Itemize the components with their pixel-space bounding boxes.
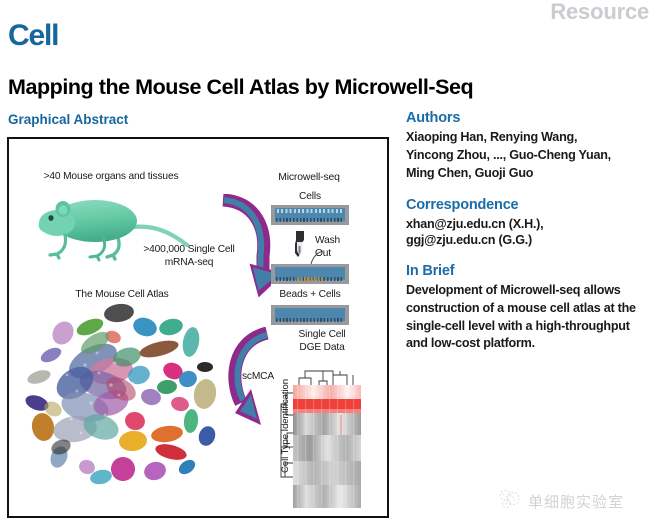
microwell-panel-beads-cells (271, 305, 349, 325)
in-brief-line: construction of a mouse cell atlas at th… (406, 300, 654, 318)
correspondence-emails: xhan@zju.edu.cn (X.H.), ggj@zju.edu.cn (… (406, 216, 654, 249)
watermark: 单细胞实验室 (497, 487, 624, 516)
dge-data-label: Single Cell DGE Data (277, 329, 367, 355)
correspondence-email[interactable]: xhan@zju.edu.cn (X.H.), (406, 216, 654, 233)
heatmap-icon (293, 385, 361, 508)
authors-line: Xiaoping Han, Renying Wang, (406, 129, 654, 147)
tsne-scatter-icon (15, 299, 230, 517)
microwell-panel-cells (271, 205, 349, 225)
arrow-microwell-to-atlas (215, 194, 271, 306)
correspondence-heading: Correspondence (406, 197, 654, 213)
cell-cluster-icon (497, 487, 521, 516)
in-brief-line: single-cell level with a high-throughput (406, 318, 654, 336)
article-meta-column: Authors Xiaoping Han, Renying Wang, Yinc… (406, 110, 654, 353)
correspondence-email[interactable]: ggj@zju.edu.cn (G.G.) (406, 232, 654, 249)
cell-type-identification-label: Cell Type Identification (280, 378, 294, 474)
column-dendrogram (293, 367, 361, 385)
well-cell-dots (277, 209, 343, 213)
well-bead-teeth (276, 218, 344, 222)
in-brief-heading: In Brief (406, 263, 654, 279)
in-brief-line: Development of Microwell-seq allows (406, 282, 654, 300)
well-orange-beads (297, 277, 323, 281)
authors-heading: Authors (406, 110, 654, 126)
cell-cluster-icon (497, 487, 521, 511)
microwell-panel-washout (271, 264, 349, 284)
cells-label: Cells (271, 191, 349, 204)
authors-section: Authors Xiaoping Han, Renying Wang, Yinc… (406, 110, 654, 183)
correspondence-section: Correspondence xhan@zju.edu.cn (X.H.), g… (406, 197, 654, 249)
well-bead-teeth (276, 318, 344, 322)
expression-heatmap (293, 385, 361, 508)
page-title: Mapping the Mouse Cell Atlas by Microwel… (8, 76, 473, 100)
article-type-label: Resource (550, 0, 649, 25)
authors-line: Ming Chen, Guoji Guo (406, 165, 654, 183)
authors-list: Xiaoping Han, Renying Wang, Yincong Zhou… (406, 129, 654, 183)
authors-line: Yincong Zhou, ..., Guo-Cheng Yuan, (406, 147, 654, 165)
in-brief-text: Development of Microwell-seq allows cons… (406, 282, 654, 354)
journal-logo: Cell (8, 21, 58, 51)
microwell-seq-label: Microwell-seq (261, 171, 357, 184)
graphical-abstract-heading: Graphical Abstract (8, 112, 128, 127)
dendrogram-icon (293, 367, 361, 385)
tsne-cluster-plot (15, 299, 230, 517)
watermark-text: 单细胞实验室 (528, 491, 624, 512)
organs-label: >40 Mouse organs and tissues (21, 171, 201, 184)
scmca-label: scMCA (233, 371, 283, 384)
graphical-abstract-figure: >40 Mouse organs and tissues (7, 137, 389, 518)
beads-cells-label: Beads + Cells (265, 289, 355, 302)
in-brief-section: In Brief Development of Microwell-seq al… (406, 263, 654, 354)
in-brief-line: and low-cost platform. (406, 335, 654, 353)
curved-arrow-icon (215, 194, 271, 306)
